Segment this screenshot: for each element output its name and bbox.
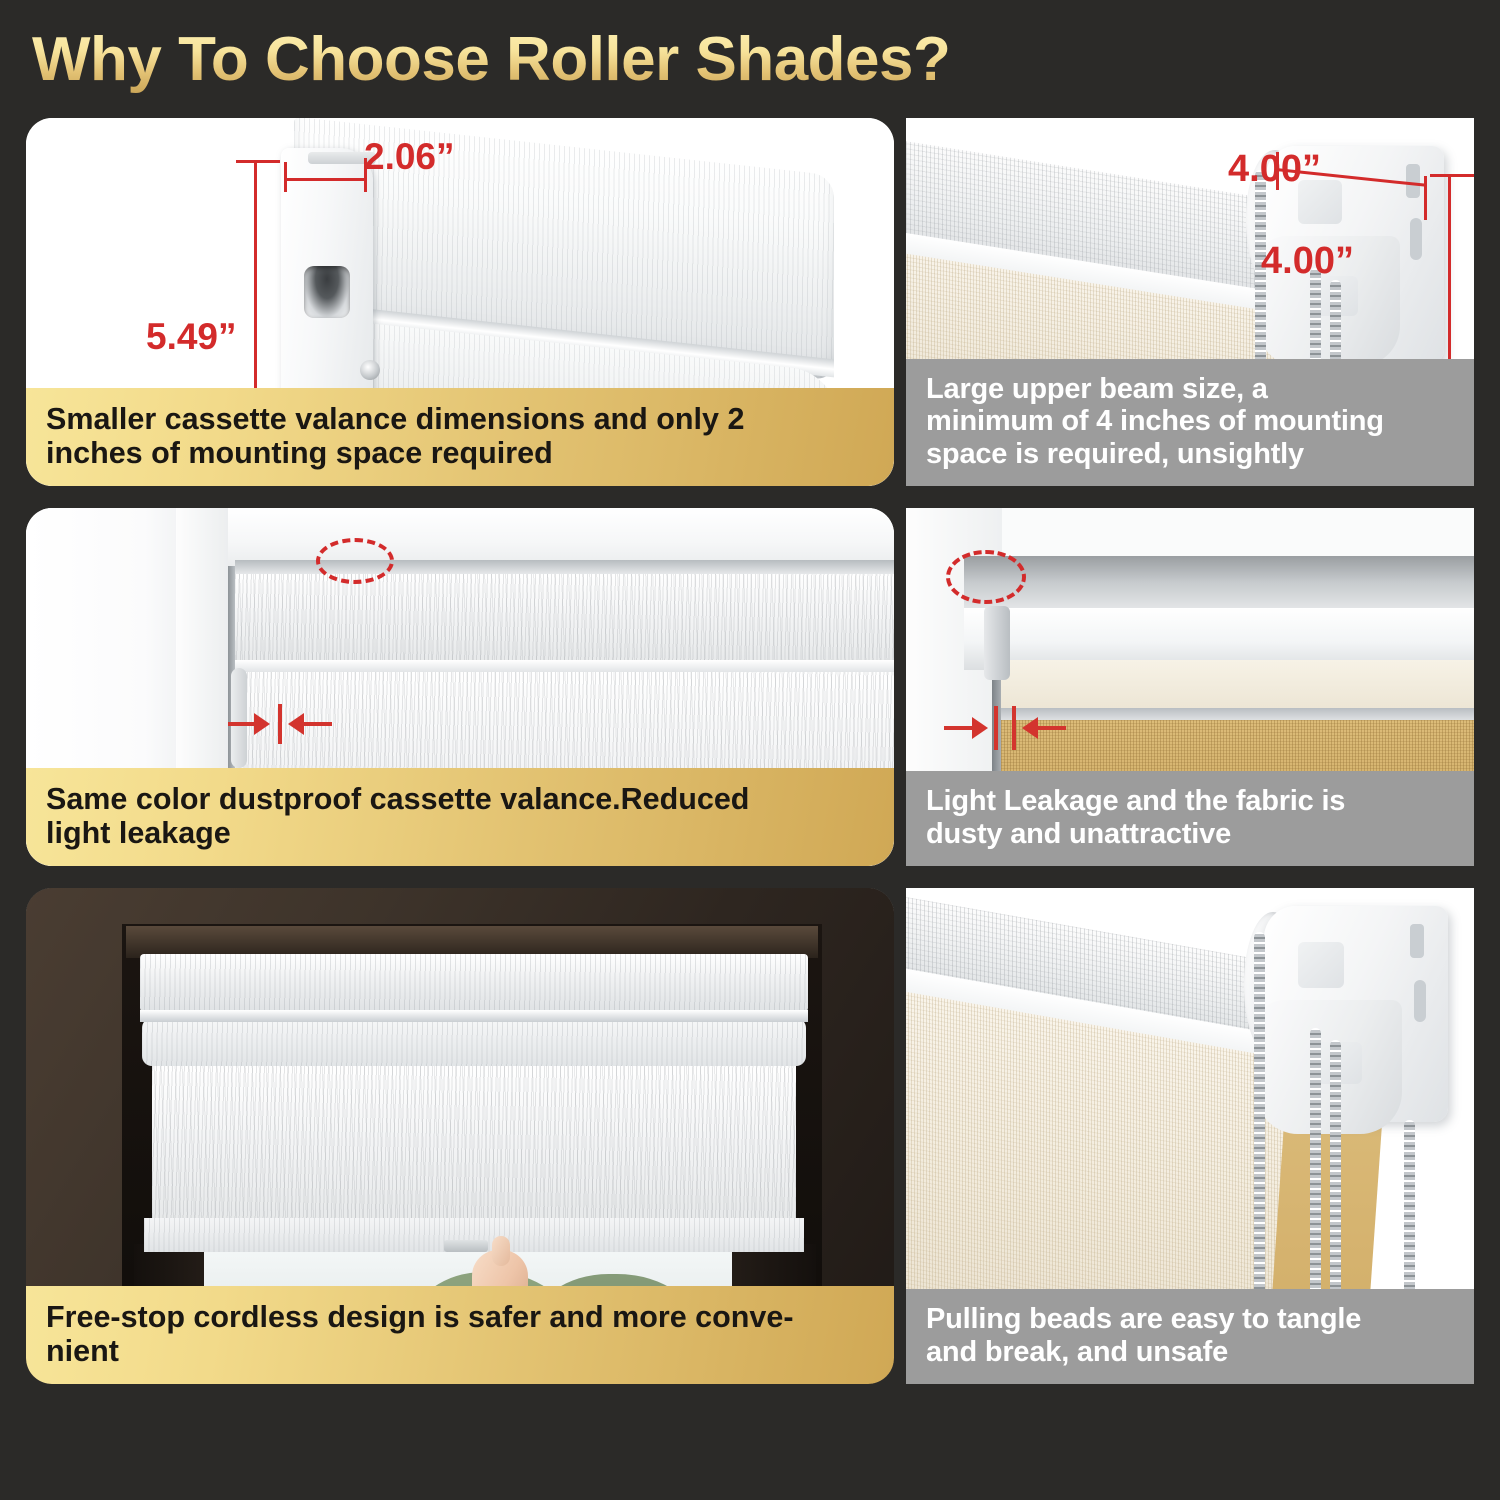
beam-width-label: 4.00” bbox=[1228, 148, 1321, 191]
cassette-valance bbox=[140, 954, 808, 1012]
caption-line-2: nient bbox=[46, 1334, 876, 1368]
caption-line-2: light leakage bbox=[46, 816, 876, 850]
gap-arrow-left bbox=[228, 714, 270, 734]
caption-line-2: dusty and unattractive bbox=[926, 818, 1456, 850]
caption-line-1: Same color dustproof cassette valance.Re… bbox=[46, 782, 876, 816]
caption-free-stop-cordless: Free-stop cordless design is safer and m… bbox=[26, 1286, 894, 1384]
caption-line-1: Smaller cassette valance dimensions and … bbox=[46, 402, 876, 436]
caption-line-1: Pulling beads are easy to tangle bbox=[926, 1303, 1456, 1335]
pull-tab bbox=[444, 1240, 488, 1252]
caption-line-1: Large upper beam size, a bbox=[926, 373, 1456, 405]
bracket-slot bbox=[304, 266, 350, 318]
valance-divider bbox=[235, 660, 894, 672]
caption-line-3: space is required, unsightly bbox=[926, 438, 1456, 470]
bracket-emboss-upper bbox=[1298, 942, 1344, 988]
roller-tube bbox=[142, 1018, 806, 1066]
panel-light-leakage[interactable]: Large gap Light Leakage and the fabric i… bbox=[906, 508, 1474, 866]
panel-smaller-cassette[interactable]: 2.06” 5.49” Smaller cassette valance dim… bbox=[26, 118, 894, 486]
bracket-notch-lower bbox=[1414, 980, 1426, 1022]
highlight-circle-icon bbox=[316, 538, 394, 584]
width-dim-tick-left bbox=[284, 162, 287, 192]
bracket-notch-upper bbox=[1410, 924, 1424, 958]
width-dim-line bbox=[284, 178, 366, 181]
panel-large-upper-beam[interactable]: 4.00” 4.00” Large upper beam size, a min… bbox=[906, 118, 1474, 486]
gap-marker-bar bbox=[278, 704, 282, 744]
thumb bbox=[492, 1236, 510, 1266]
panel-free-stop-cordless[interactable]: Free-stop cordless design is safer and m… bbox=[26, 888, 894, 1384]
beam-height-label: 4.00” bbox=[1261, 240, 1354, 283]
bracket-screw-upper bbox=[360, 360, 380, 380]
width-dimension-label: 2.06” bbox=[364, 136, 455, 178]
gap-marker-bar-2 bbox=[1012, 706, 1016, 750]
height-dimension-label: 5.49” bbox=[146, 316, 237, 358]
panel-pulling-beads[interactable]: Pulling beads are easy to tangle and bre… bbox=[906, 888, 1474, 1384]
gap-marker-bar-1 bbox=[994, 706, 998, 750]
gap-arrow-right bbox=[288, 714, 334, 734]
gap-arrow-left bbox=[944, 718, 988, 738]
gap-arrow-right bbox=[1022, 718, 1068, 738]
caption-light-leakage: Light Leakage and the fabric is dusty an… bbox=[906, 771, 1474, 866]
caption-line-1: Light Leakage and the fabric is bbox=[926, 785, 1456, 817]
comparison-grid: 2.06” 5.49” Smaller cassette valance dim… bbox=[0, 0, 1500, 1500]
bracket-notch-lower bbox=[1410, 218, 1422, 260]
caption-large-upper-beam: Large upper beam size, a minimum of 4 in… bbox=[906, 359, 1474, 486]
caption-pulling-beads: Pulling beads are easy to tangle and bre… bbox=[906, 1289, 1474, 1384]
caption-line-2: and break, and unsafe bbox=[926, 1336, 1456, 1368]
caption-line-2: minimum of 4 inches of mounting bbox=[926, 405, 1456, 437]
height-dim-tick-top bbox=[236, 160, 280, 163]
beam-height-line bbox=[1448, 174, 1451, 370]
beam-height-tick-top bbox=[1430, 174, 1474, 177]
panel-dustproof-cassette[interactable]: smaller gap Same color dustproof cassett… bbox=[26, 508, 894, 866]
caption-line-1: Free-stop cordless design is safer and m… bbox=[46, 1300, 876, 1334]
cream-fabric-band bbox=[994, 660, 1474, 712]
highlight-circle-icon bbox=[946, 550, 1026, 604]
caption-smaller-cassette: Smaller cassette valance dimensions and … bbox=[26, 388, 894, 486]
caption-dustproof-cassette: Same color dustproof cassette valance.Re… bbox=[26, 768, 894, 866]
shade-fabric bbox=[152, 1064, 796, 1220]
upper-beam-shadow bbox=[964, 556, 1474, 614]
bracket-fragment bbox=[984, 606, 1010, 680]
valance-rail bbox=[140, 1010, 808, 1022]
caption-line-2: inches of mounting space required bbox=[46, 436, 876, 470]
valance-fabric bbox=[235, 572, 894, 662]
